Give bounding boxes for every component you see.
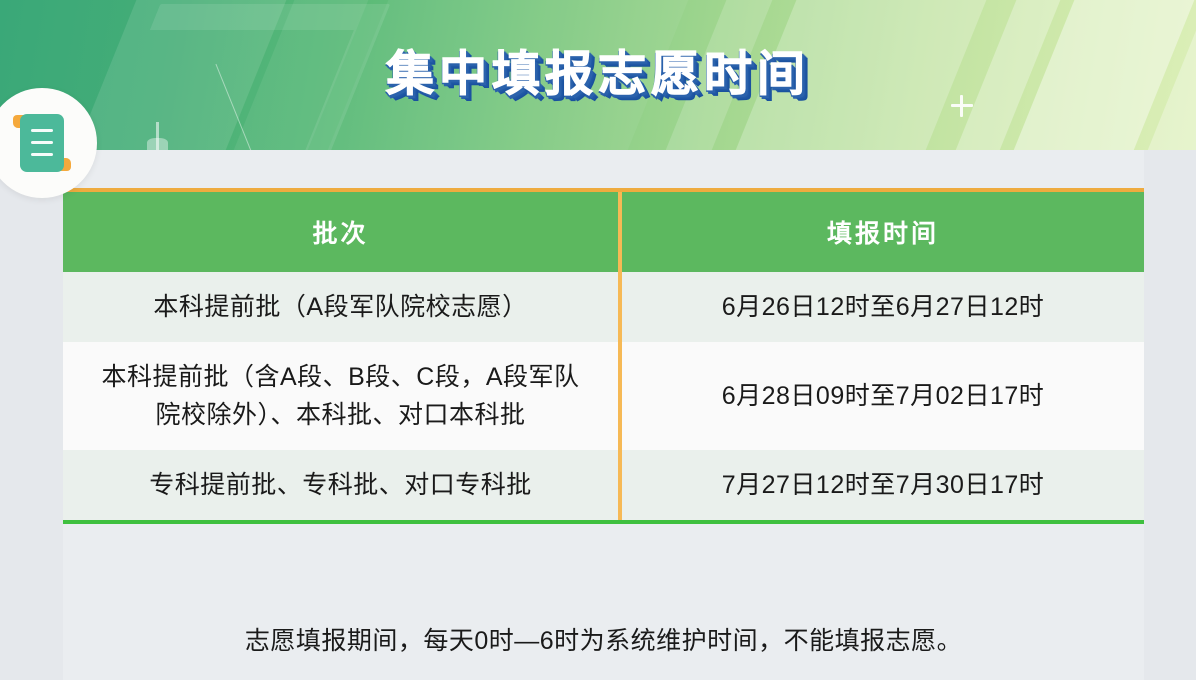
document-scroll-icon [20, 114, 64, 172]
table-header-time: 填报时间 [620, 192, 1144, 272]
table-cell-time: 6月28日09时至7月02日17时 [620, 342, 1144, 450]
table-cell-batch: 本科提前批（A段军队院校志愿） [63, 272, 620, 342]
schedule-table: 批次 填报时间 本科提前批（A段军队院校志愿） 6月26日12时至6月27日12… [63, 192, 1144, 524]
table-header-row: 批次 填报时间 [63, 192, 1144, 272]
page-root: 集中填报志愿时间 批次 填报时间 本 [0, 0, 1196, 680]
table-header-batch: 批次 [63, 192, 620, 272]
banner-spire-decoration [156, 122, 159, 150]
document-line [31, 129, 53, 132]
page-title: 集中填报志愿时间 [0, 34, 1196, 104]
document-sheet [20, 114, 64, 172]
table-row: 本科提前批（A段军队院校志愿） 6月26日12时至6月27日12时 [63, 272, 1144, 342]
schedule-table-wrapper: 批次 填报时间 本科提前批（A段军队院校志愿） 6月26日12时至6月27日12… [63, 188, 1144, 524]
table-row: 本科提前批（含A段、B段、C段，A段军队院校除外）、本科批、对口本科批 6月28… [63, 342, 1144, 450]
table-cell-batch: 专科提前批、专科批、对口专科批 [63, 450, 620, 522]
document-line [31, 141, 53, 144]
table-cell-batch: 本科提前批（含A段、B段、C段，A段军队院校除外）、本科批、对口本科批 [63, 342, 620, 450]
table-cell-time: 7月27日12时至7月30日17时 [620, 450, 1144, 522]
table-cell-time: 6月26日12时至6月27日12时 [620, 272, 1144, 342]
footer-note: 志愿填报期间，每天0时—6时为系统维护时间，不能填报志愿。 [63, 613, 1144, 665]
table-row: 专科提前批、专科批、对口专科批 7月27日12时至7月30日17时 [63, 450, 1144, 522]
document-line [31, 153, 53, 156]
